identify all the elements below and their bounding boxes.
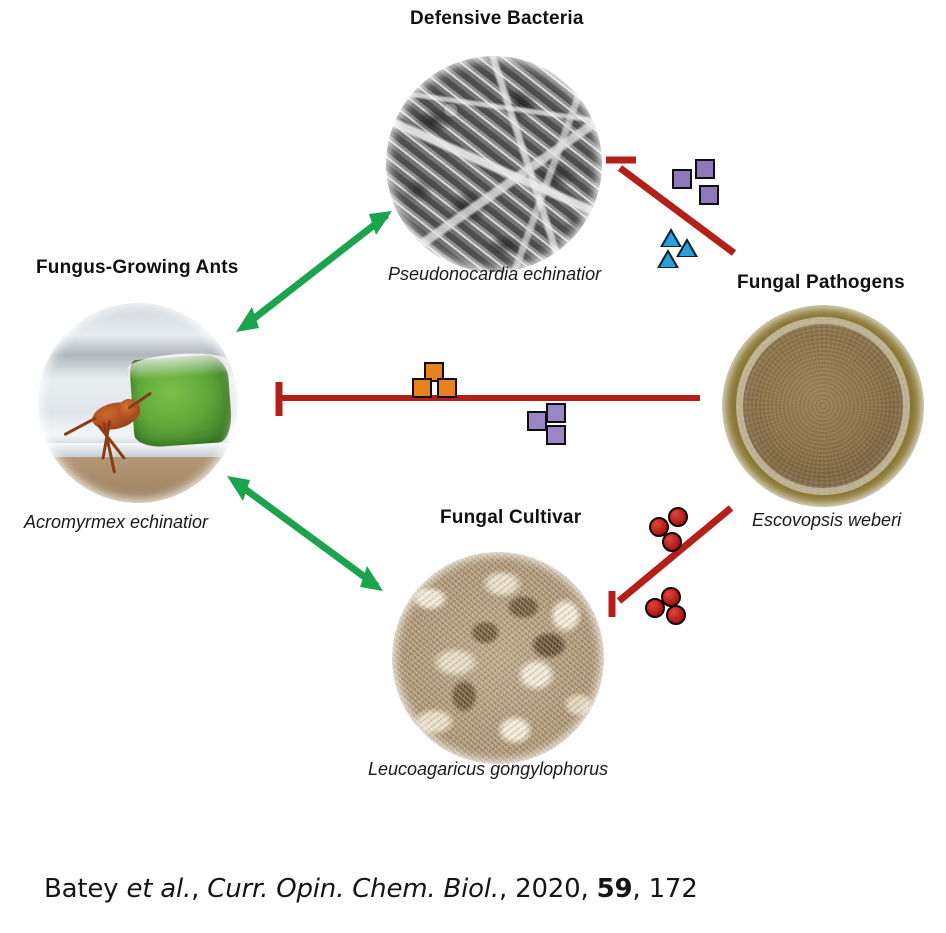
citation-volume: 59 xyxy=(597,874,633,904)
citation-year: 2020 xyxy=(515,874,580,904)
molecule-circle-red xyxy=(666,605,686,625)
node-title-fungal-cultivar: Fungal Cultivar xyxy=(440,507,581,529)
node-caption-fungus-growing-ants: Acromyrmex echinatior xyxy=(24,512,208,533)
citation-sep-3: , xyxy=(580,874,596,904)
citation-line: Batey et al., Curr. Opin. Chem. Biol., 2… xyxy=(44,874,698,904)
figure-canvas: Defensive Bacteria Pseudonocardia echina… xyxy=(0,0,946,933)
citation-sep-4: , xyxy=(632,874,648,904)
citation-sep-1: , xyxy=(191,874,207,904)
node-title-fungal-pathogens: Fungal Pathogens xyxy=(737,272,905,294)
node-caption-fungal-pathogens: Escovopsis weberi xyxy=(752,510,901,531)
citation-journal: Curr. Opin. Chem. Biol. xyxy=(207,874,499,904)
citation-et-al: et al. xyxy=(126,874,191,904)
molecule-circle-red xyxy=(645,598,665,618)
node-caption-fungal-cultivar: Leucoagaricus gongylophorus xyxy=(368,759,608,780)
citation-authors: Batey xyxy=(44,874,118,904)
citation-page: 172 xyxy=(649,874,698,904)
citation-sep-2: , xyxy=(499,874,515,904)
node-title-defensive-bacteria: Defensive Bacteria xyxy=(410,8,584,30)
molecule-cluster-red-circles-lower xyxy=(0,0,946,933)
node-caption-defensive-bacteria: Pseudonocardia echinatior xyxy=(388,264,601,285)
node-title-fungus-growing-ants: Fungus-Growing Ants xyxy=(36,257,239,279)
